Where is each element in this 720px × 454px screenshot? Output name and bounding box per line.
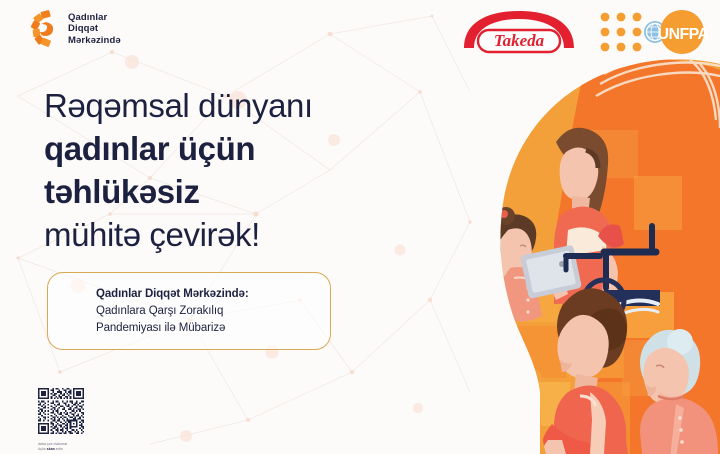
- callout-card: Qadınlar Diqqət Mərkəzində: Qadınlara Qa…: [47, 272, 331, 350]
- callout-title: Qadınlar Diqqət Mərkəzində:: [96, 285, 314, 303]
- qr-caption-line-2: üçün skan edin: [38, 447, 98, 452]
- headline-line-4: mühitə çevirək!: [44, 213, 313, 256]
- qr-code-icon[interactable]: [38, 388, 84, 434]
- headline-line-2: qadınlar üçün: [44, 127, 313, 170]
- brand-logo-qadinlar-diqqet-merkezinde[interactable]: Qadınlar Diqqət Mərkəzində: [30, 10, 121, 48]
- unfpa-wordmark: UNFPA: [658, 26, 710, 43]
- headline-line-3: təhlükəsiz: [44, 170, 313, 213]
- brand-logo-line-2: Diqqət: [68, 23, 121, 35]
- callout-line-1: Qadınlara Qarşı Zorakılıq: [96, 303, 314, 320]
- brand-logo-text: Qadınlar Diqqət Mərkəzində: [68, 12, 121, 47]
- brand-logo-line-3: Mərkəzində: [68, 35, 121, 47]
- unfpa-logo[interactable]: UNFPA: [598, 8, 710, 54]
- qr-block[interactable]: daha çox məlumat üçün skan edin: [38, 388, 98, 451]
- takeda-wordmark: Takeda: [494, 31, 545, 50]
- qdm-spiral-icon: [30, 10, 60, 48]
- illustration-women-collage: [390, 0, 720, 454]
- qr-caption: daha çox məlumat üçün skan edin: [38, 442, 98, 451]
- takeda-logo[interactable]: Takeda: [460, 8, 578, 54]
- unfpa-dot-grid: [601, 13, 642, 52]
- headline-line-1: Rəqəmsal dünyanı: [44, 84, 313, 127]
- headline: Rəqəmsal dünyanı qadınlar üçün təhlükəsi…: [44, 84, 313, 256]
- brand-logo-line-1: Qadınlar: [68, 12, 121, 24]
- callout-line-2: Pandemiyası ilə Mübarizə: [96, 320, 314, 337]
- poster-canvas: Qadınlar Diqqət Mərkəzində Takeda UNFPA …: [0, 0, 720, 454]
